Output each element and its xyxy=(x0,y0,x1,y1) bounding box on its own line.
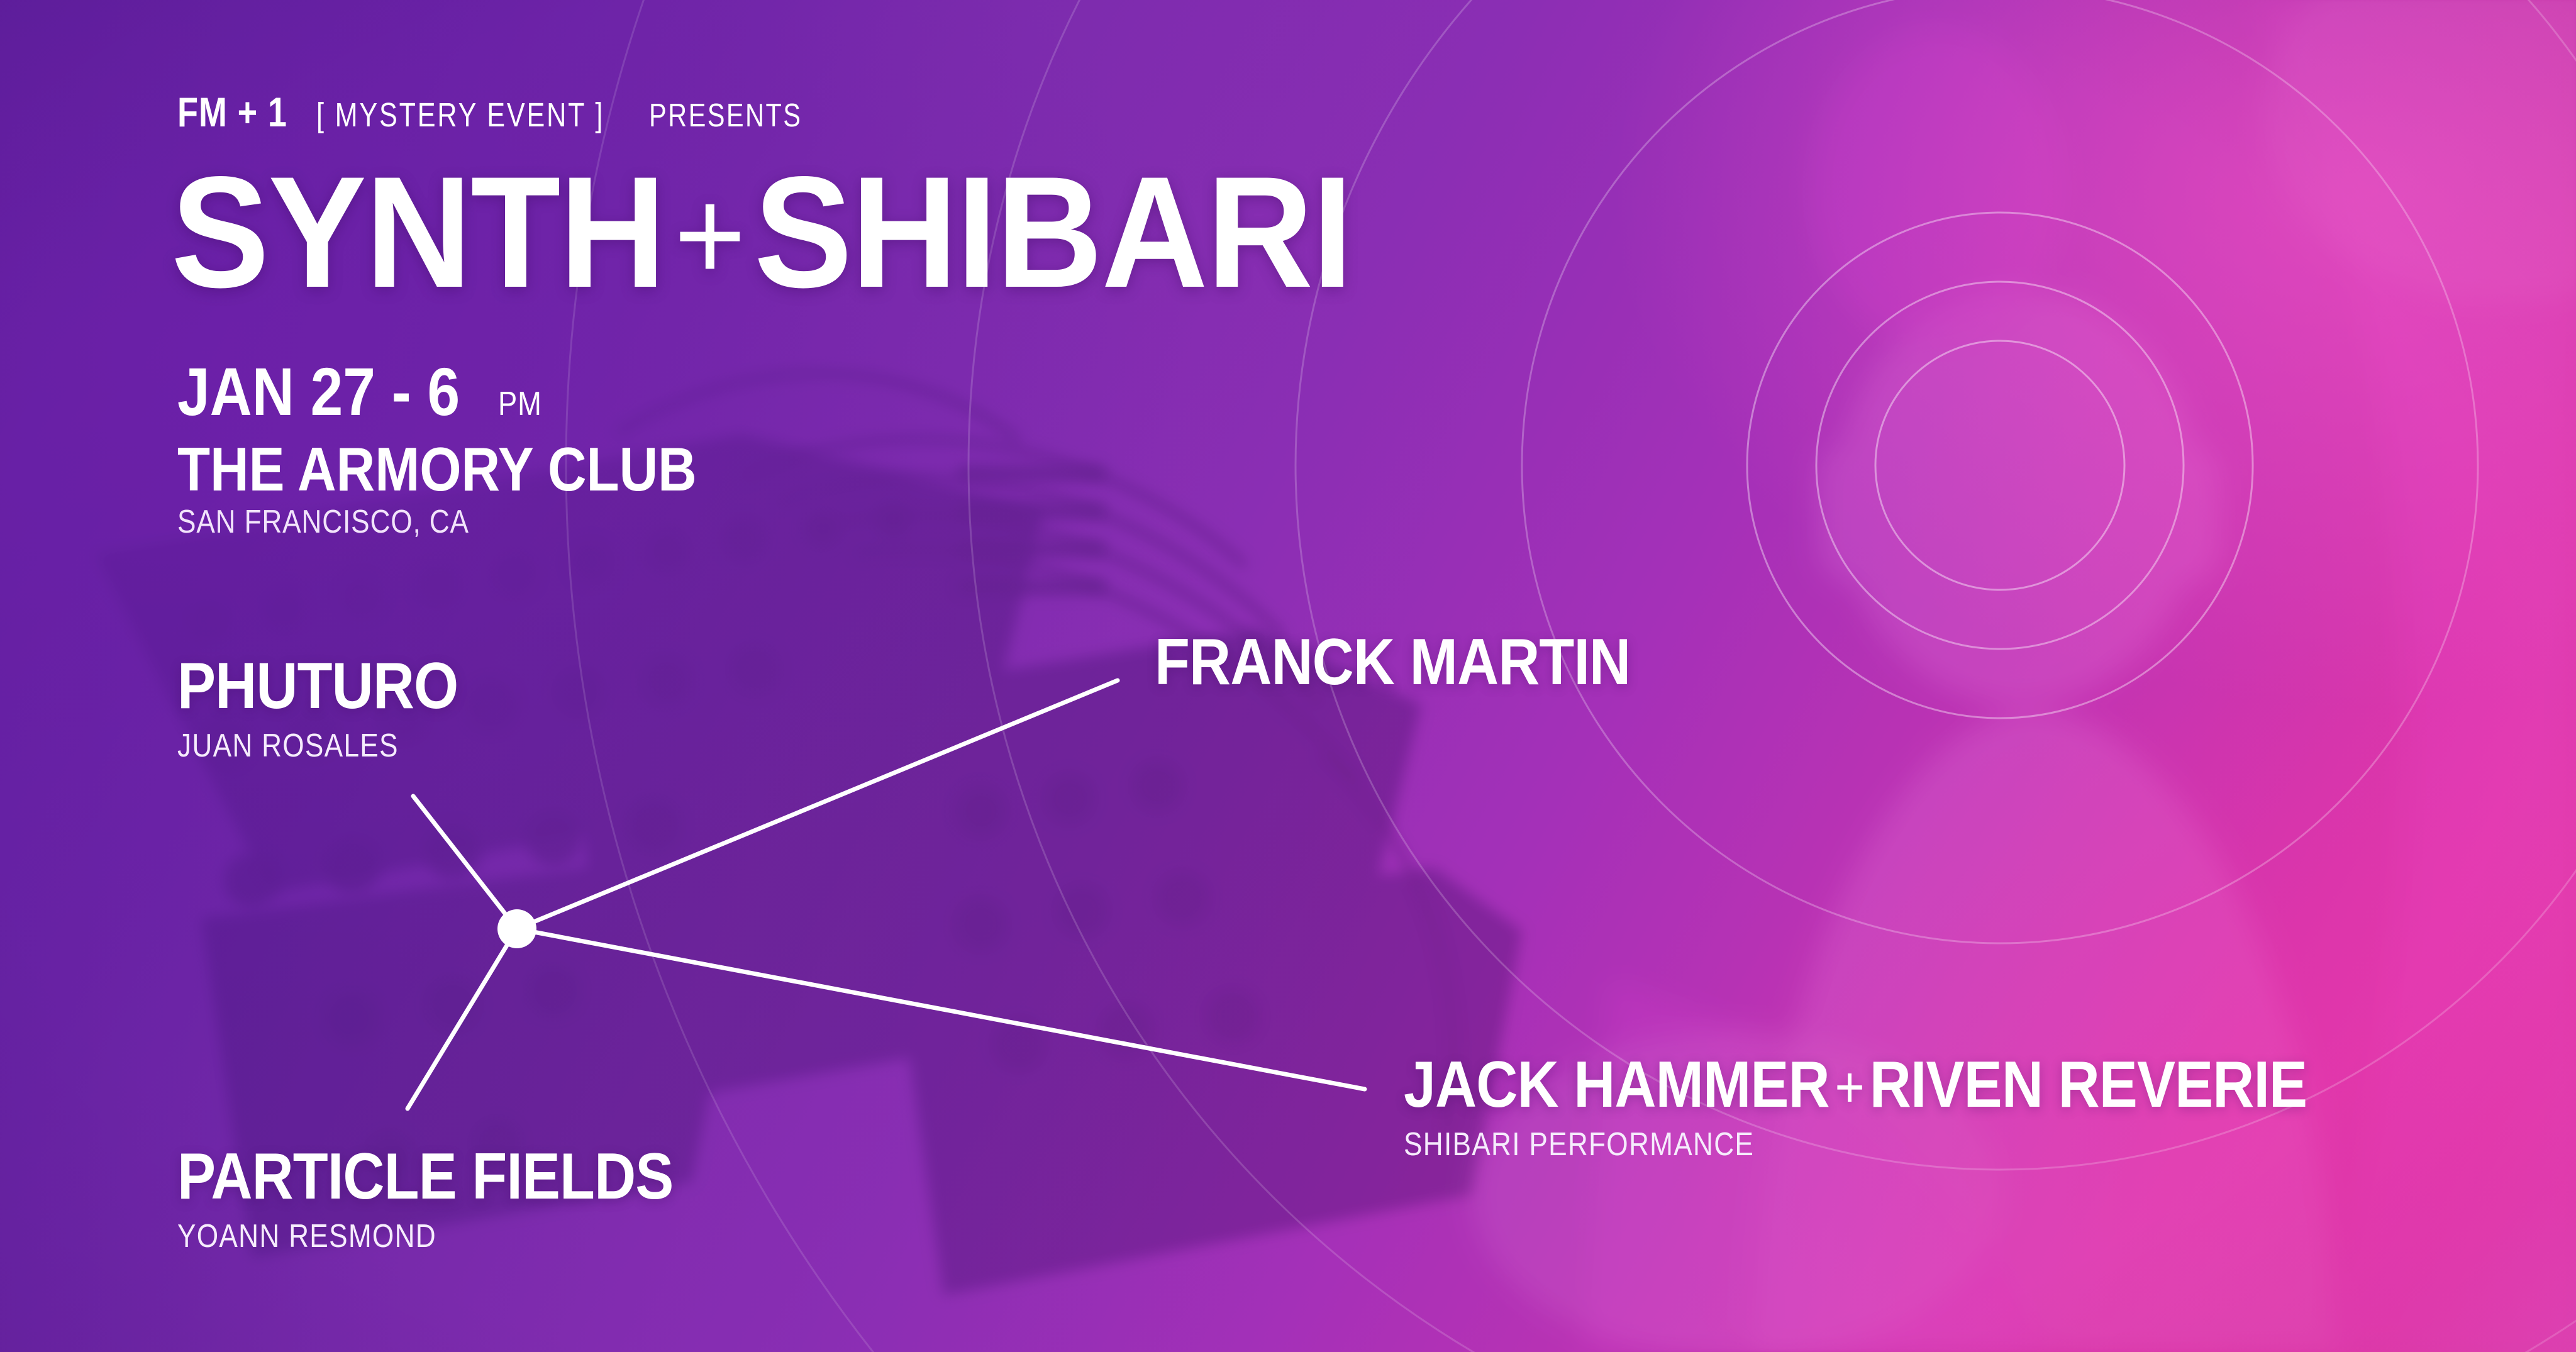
artist-subtitle: SHIBARI PERFORMANCE xyxy=(1404,1126,2276,1163)
connector-lines xyxy=(408,680,1365,1109)
brand-label: FM + 1 xyxy=(177,88,287,136)
artist-joiner-glyph: + xyxy=(1829,1055,1870,1119)
bracket-label: [ MYSTERY EVENT ] xyxy=(316,96,604,135)
connector-to-jack-hammer xyxy=(517,929,1365,1089)
event-date: JAN 27 - 6 PM xyxy=(177,352,550,431)
venue-name: THE ARMORY CLUB xyxy=(177,434,697,505)
artist-name-b: RIVEN REVERIE xyxy=(1870,1048,2307,1121)
artist-name: PARTICLE FIELDS xyxy=(177,1143,673,1210)
network-hub-node xyxy=(497,909,536,948)
time-suffix: PM xyxy=(498,384,542,423)
artist-subtitle: JUAN ROSALES xyxy=(177,727,448,765)
kicker-line: FM + 1 [ MYSTERY EVENT ] PRESENTS xyxy=(177,88,840,136)
lineup-item-jack-hammer-riven-reverie: JACK HAMMER+RIVEN REVERIE SHIBARI PERFOR… xyxy=(1404,1051,2430,1163)
title-plus-glyph: + xyxy=(665,161,754,309)
venue-city: SAN FRANCISCO, CA xyxy=(177,503,469,541)
artist-name: PHUTURO xyxy=(177,653,458,719)
artist-subtitle: YOANN RESMOND xyxy=(177,1217,657,1255)
lineup-item-particle-fields: PARTICLE FIELDS YOANN RESMOND xyxy=(177,1143,741,1255)
artist-name: JACK HAMMER+RIVEN REVERIE xyxy=(1404,1051,2307,1118)
lineup-item-phuturo: PHUTURO JUAN ROSALES xyxy=(177,653,496,765)
artist-name: FRANCK MARTIN xyxy=(1155,629,1630,695)
connector-to-particle-fields xyxy=(408,929,517,1109)
presents-label: PRESENTS xyxy=(649,97,802,135)
lineup-item-franck-martin: FRANCK MARTIN xyxy=(1155,629,1695,695)
artist-name-a: JACK HAMMER xyxy=(1404,1048,1829,1121)
title-part-1: SYNTH xyxy=(171,144,665,321)
title-part-2: SHIBARI xyxy=(754,144,1352,321)
page-title: SYNTH+SHIBARI xyxy=(171,157,1352,308)
event-poster: FM + 1 [ MYSTERY EVENT ] PRESENTS SYNTH+… xyxy=(0,0,2576,1352)
connector-to-phuturo xyxy=(413,796,517,929)
date-value: JAN 27 - 6 xyxy=(177,352,460,431)
